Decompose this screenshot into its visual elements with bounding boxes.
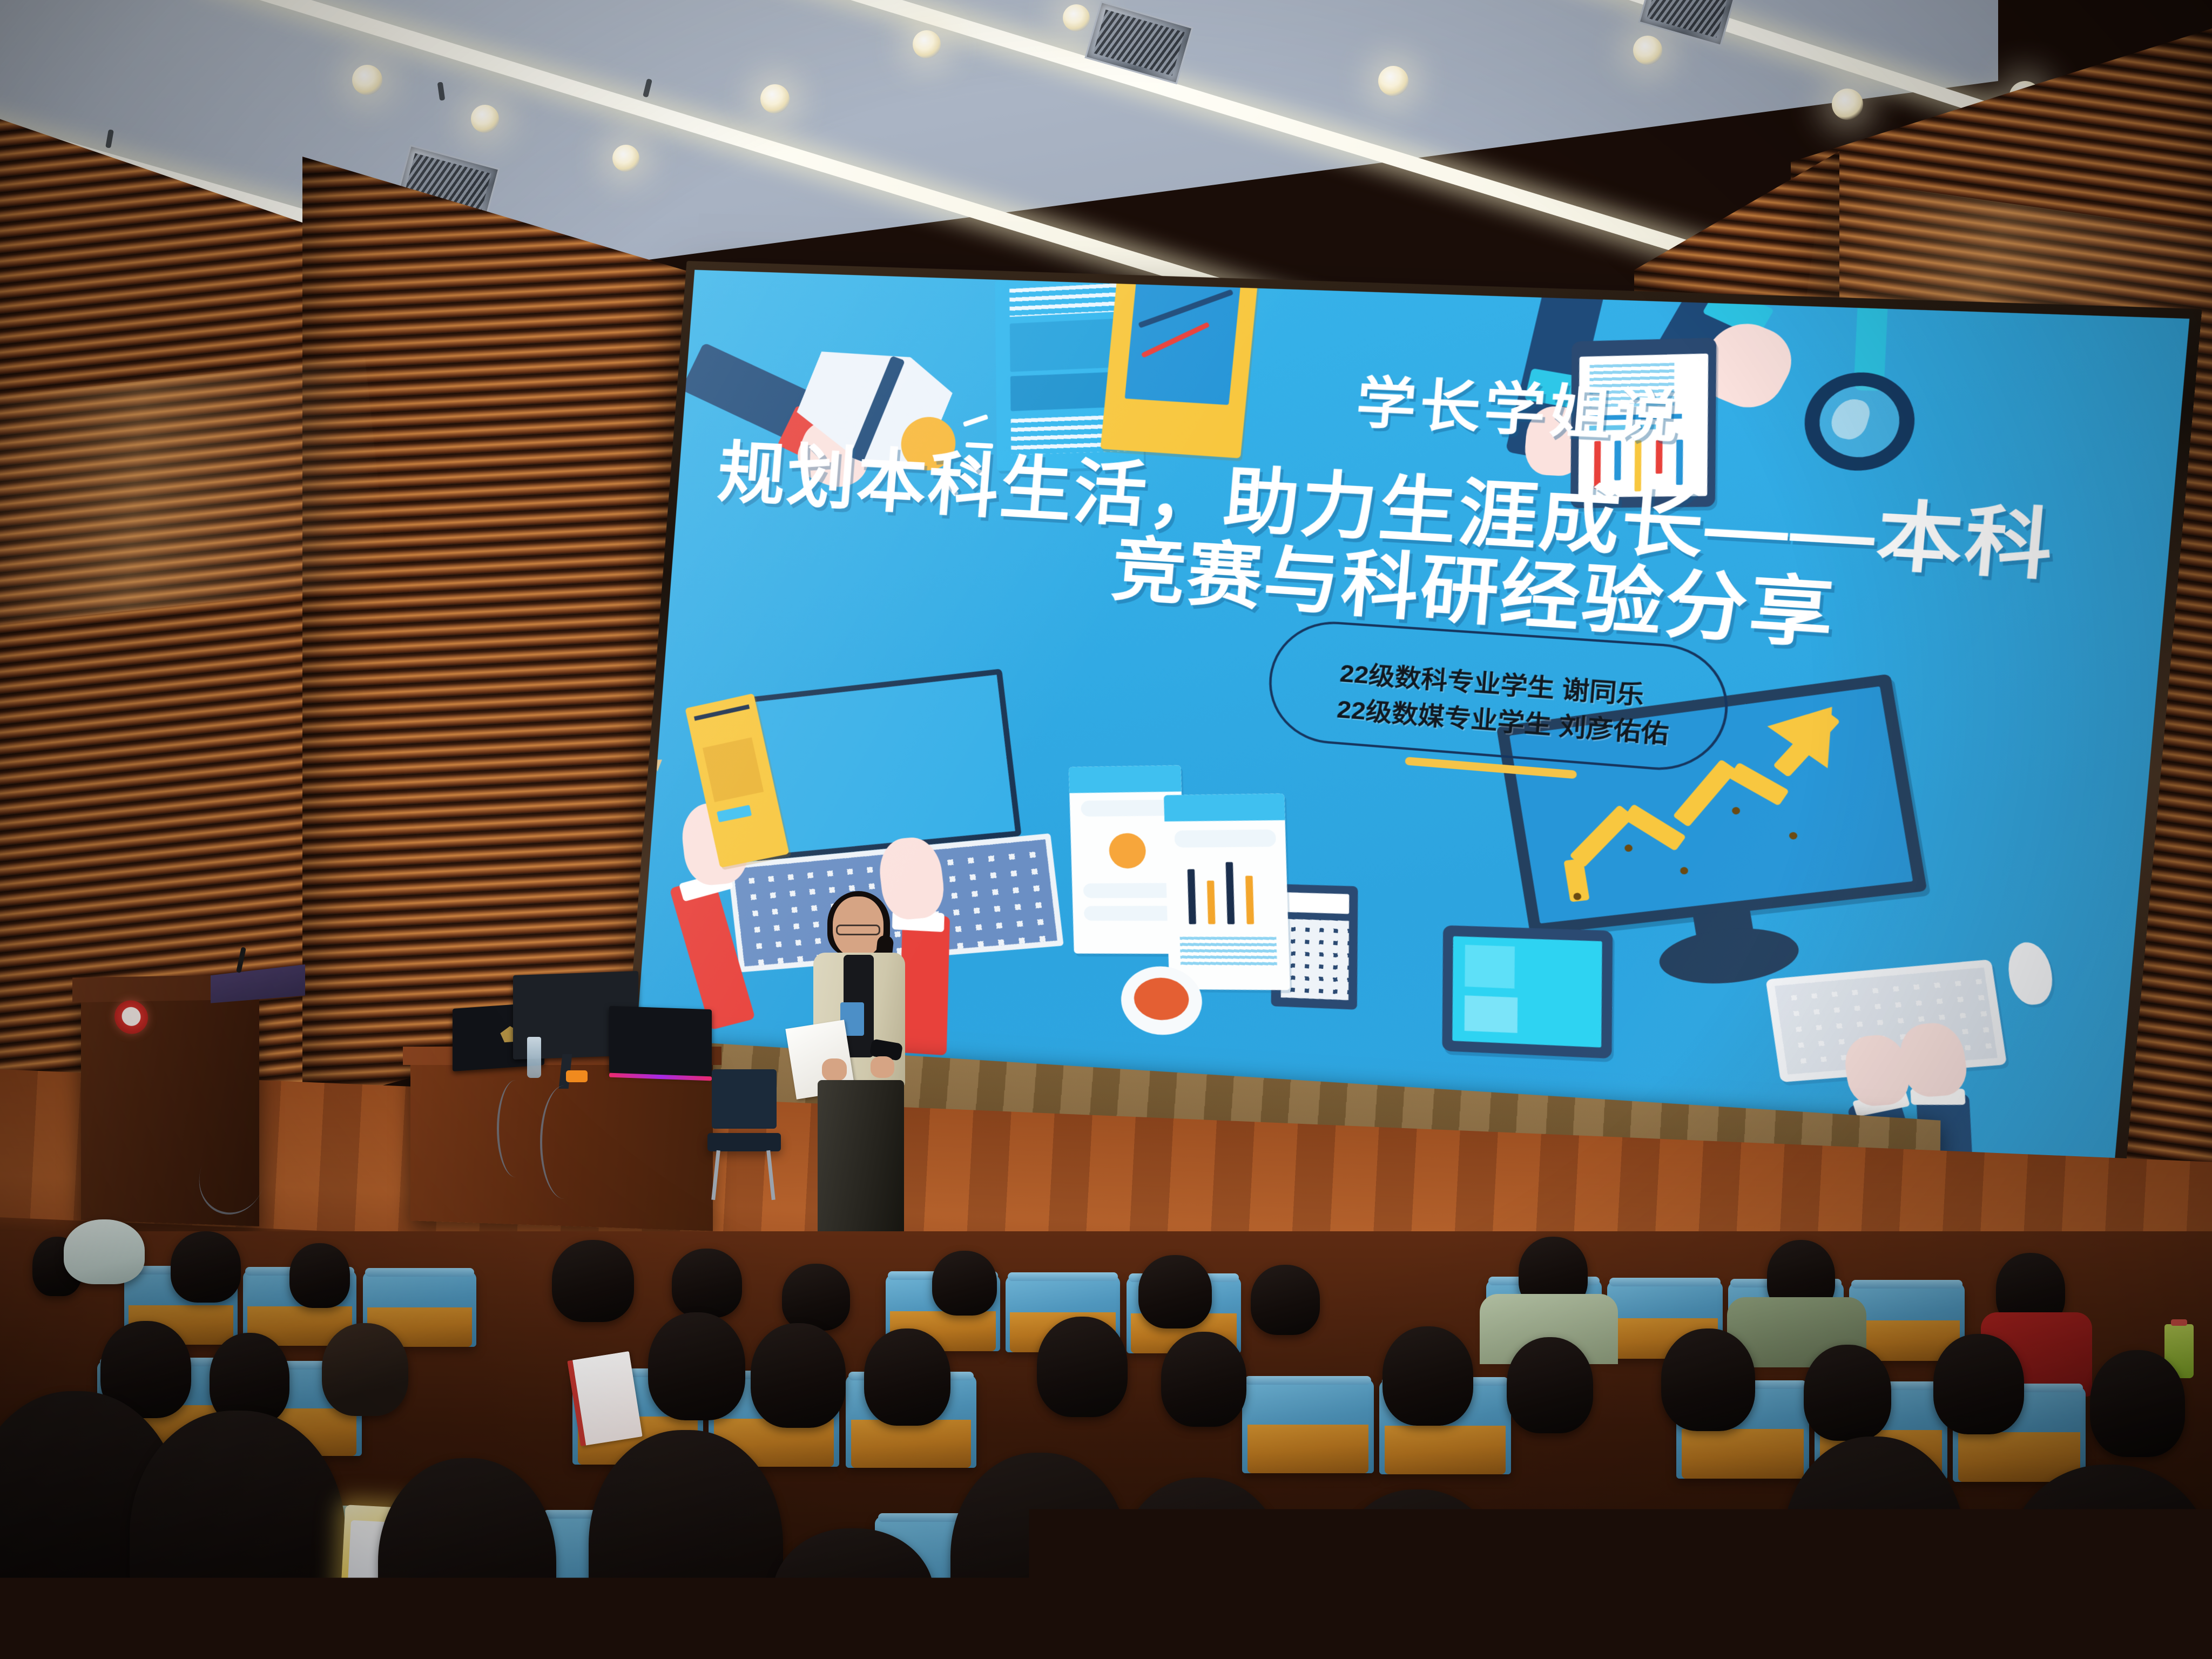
ui-search-field bbox=[1174, 829, 1276, 848]
audience-head bbox=[648, 1312, 745, 1420]
audience-head-foreground bbox=[772, 1528, 934, 1659]
cable bbox=[540, 1085, 589, 1199]
chair-seat bbox=[707, 1133, 781, 1151]
audience-head bbox=[1382, 1326, 1473, 1426]
audience-head bbox=[552, 1240, 634, 1322]
audience-head-foreground bbox=[378, 1458, 556, 1659]
ceiling-spotlight bbox=[1633, 36, 1662, 65]
audience-head-foreground bbox=[1782, 1437, 1966, 1659]
audience-head bbox=[1138, 1255, 1212, 1328]
phone-ui-chip bbox=[366, 1604, 379, 1617]
ui-input bbox=[1081, 800, 1171, 817]
phone-ui-chip bbox=[351, 1603, 363, 1617]
ui-input bbox=[1084, 906, 1174, 921]
audience-head bbox=[2090, 1350, 2185, 1457]
audience-head bbox=[1804, 1345, 1891, 1441]
ui-cards-illustration bbox=[1069, 763, 1366, 1042]
mouse bbox=[2005, 941, 2056, 1007]
phone-ui-chip bbox=[352, 1579, 380, 1600]
slide-title: 学长学姐说 bbox=[1353, 357, 1686, 454]
audience-head bbox=[1507, 1337, 1593, 1433]
red-pamphlet bbox=[567, 1351, 643, 1446]
auditorium-photo: 学长学姐说 规划本科生活，助力生涯成长——本科 竞赛与科研经验分享 22级数科专… bbox=[0, 0, 2212, 1659]
cable bbox=[497, 1080, 535, 1177]
presenter-glasses bbox=[836, 925, 880, 935]
ui-input bbox=[1083, 883, 1174, 898]
highlighted-chart-card bbox=[1100, 270, 1260, 458]
audience-head-foreground bbox=[950, 1453, 1129, 1659]
university-emblem bbox=[114, 1000, 148, 1034]
presenter-hand bbox=[871, 1056, 894, 1078]
audience-head bbox=[782, 1264, 850, 1331]
second-laptop bbox=[609, 1006, 712, 1077]
ceiling-spotlight bbox=[612, 145, 639, 172]
arrow-node bbox=[1624, 844, 1633, 852]
audience-head bbox=[751, 1323, 846, 1428]
audience-head bbox=[1161, 1332, 1246, 1427]
presenter-trousers bbox=[818, 1080, 904, 1242]
audience-head bbox=[1037, 1317, 1128, 1417]
audience-head-with-cap bbox=[64, 1219, 145, 1284]
auditorium-seat bbox=[1242, 1379, 1374, 1473]
arrow-node bbox=[1680, 867, 1689, 875]
audience-head bbox=[171, 1231, 241, 1303]
ceiling-spotlight bbox=[352, 65, 382, 95]
ui-card-header bbox=[1069, 765, 1182, 793]
audience-head-foreground bbox=[2007, 1465, 2212, 1659]
audience-head bbox=[1933, 1334, 2024, 1434]
rising-arrow-segment bbox=[1569, 805, 1634, 868]
ui-avatar bbox=[1108, 833, 1146, 869]
auditorium-seat bbox=[1553, 1523, 1715, 1658]
chair-back bbox=[712, 1069, 777, 1129]
chair-leg bbox=[711, 1150, 720, 1200]
audience-head bbox=[672, 1249, 742, 1318]
ceiling-spotlight bbox=[913, 30, 941, 58]
audience-head bbox=[289, 1243, 350, 1308]
audience-head bbox=[1251, 1265, 1320, 1335]
audience-head-foreground bbox=[1118, 1478, 1285, 1659]
chart-bar bbox=[1225, 862, 1235, 924]
audience-head bbox=[932, 1251, 997, 1316]
audience-head-foreground bbox=[589, 1430, 783, 1659]
audience-head bbox=[322, 1323, 408, 1416]
ceiling-spotlight bbox=[760, 84, 790, 113]
arrow-node bbox=[1789, 832, 1798, 840]
water-bottle bbox=[527, 1037, 541, 1078]
chair-leg bbox=[766, 1150, 775, 1200]
ui-card bbox=[1164, 793, 1290, 990]
document-text-lines bbox=[1009, 283, 1127, 317]
chart-bar bbox=[1245, 876, 1254, 925]
ceiling-spotlight bbox=[1378, 66, 1408, 96]
ui-card-header bbox=[1164, 793, 1285, 821]
ceiling-spotlight bbox=[1063, 4, 1090, 31]
arrow-node bbox=[1731, 807, 1741, 815]
presenter-hand bbox=[822, 1058, 847, 1081]
audience-head-foreground bbox=[1334, 1489, 1501, 1659]
chart-bar bbox=[1188, 869, 1196, 925]
presenter bbox=[794, 896, 918, 1253]
ceiling-spotlight bbox=[471, 105, 499, 133]
tablet-device-illustration bbox=[1442, 925, 1636, 1081]
chart-bar bbox=[1207, 881, 1216, 925]
audience-head bbox=[864, 1328, 950, 1426]
audience-head bbox=[1661, 1328, 1755, 1431]
ceiling-spotlight bbox=[1832, 89, 1863, 120]
tablet-body bbox=[1442, 925, 1613, 1058]
megaphone-ray bbox=[963, 414, 988, 427]
rising-arrow-segment bbox=[1673, 759, 1737, 827]
orange-object bbox=[566, 1070, 588, 1082]
folding-chair bbox=[702, 1069, 783, 1199]
